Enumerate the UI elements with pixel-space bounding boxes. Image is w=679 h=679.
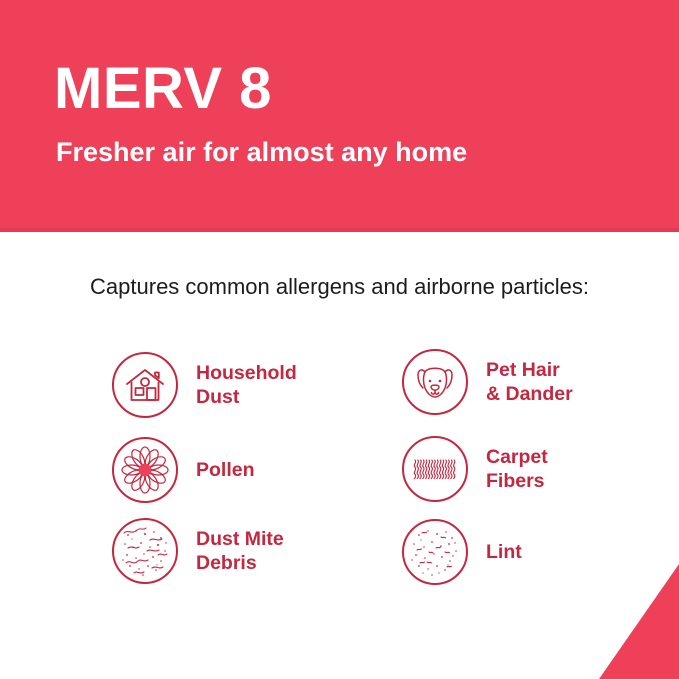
- feature-label: Dust Mite Debris: [196, 527, 284, 575]
- header-band-edge: [0, 228, 679, 232]
- corner-triangle-decoration: [599, 564, 679, 679]
- feature-label: Household Dust: [196, 361, 297, 409]
- feature-item-lint: Lint: [402, 519, 522, 585]
- carpet-fibers-icon: [402, 436, 468, 502]
- dog-head-icon: [402, 349, 468, 415]
- feature-item-pet-hair-dander: Pet Hair & Dander: [402, 349, 573, 415]
- feature-item-dust-mite-debris: Dust Mite Debris: [112, 518, 284, 584]
- feature-item-household-dust: Household Dust: [112, 352, 297, 418]
- intro-text: Captures common allergens and airborne p…: [0, 272, 679, 302]
- dust-mite-debris-icon: [112, 518, 178, 584]
- page-subtitle: Fresher air for almost any home: [56, 135, 467, 169]
- feature-label: Pollen: [196, 458, 255, 482]
- feature-label: Pet Hair & Dander: [486, 358, 573, 406]
- lint-specks-icon: [402, 519, 468, 585]
- feature-item-carpet-fibers: Carpet Fibers: [402, 436, 548, 502]
- merv-8-infographic: MERV 8 Fresher air for almost any home C…: [0, 0, 679, 679]
- house-icon: [112, 352, 178, 418]
- page-title: MERV 8: [54, 56, 272, 122]
- feature-label: Carpet Fibers: [486, 445, 548, 493]
- flower-pollen-icon: [112, 437, 178, 503]
- feature-item-pollen: Pollen: [112, 437, 255, 503]
- feature-label: Lint: [486, 540, 522, 564]
